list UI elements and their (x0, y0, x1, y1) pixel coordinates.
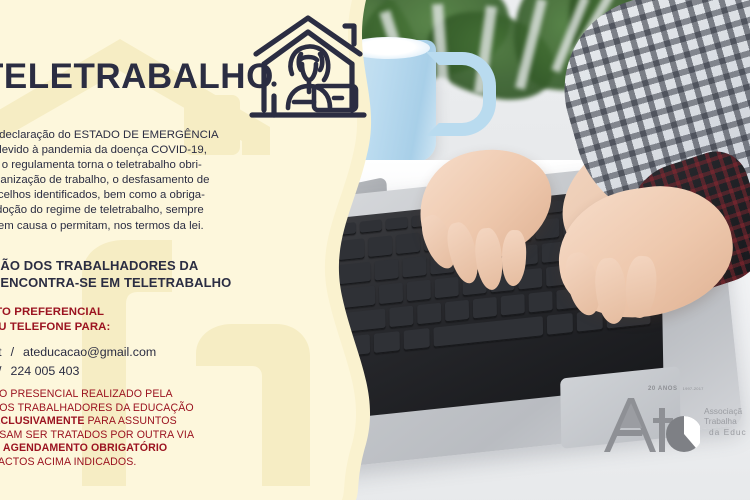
ate-wordmark-icon (600, 394, 700, 456)
intro-line: nos concelhos identificados, bem como a … (0, 188, 288, 203)
note-line-1: DIMENTO PRESENCIAL REALIZADO PELA (0, 388, 194, 402)
intro-line: o país, devido à pandemia da doença COVI… (0, 143, 288, 158)
note-line-3-post: PARA ASSUNTOS (85, 415, 177, 427)
note-line-4: ÃO POSSAM SER TRATADOS POR OUTRA VIA (0, 429, 194, 443)
in-person-service-note: DIMENTO PRESENCIAL REALIZADO PELA AÇÃO D… (0, 388, 194, 470)
intro-line: ção que o regulamenta torna o teletrabal… (0, 158, 288, 173)
logo-tagline: Associaçã Trabalha da Educ (704, 406, 747, 437)
teletrabalho-poster: TELETRABALHO ente da declaração do ESTAD… (0, 0, 750, 500)
note-line-2: AÇÃO DOS TRABALHADORES DA EDUCAÇÃO (0, 402, 194, 416)
logo-tagline-line-2: Trabalha (704, 416, 747, 426)
cream-content-panel: TELETRABALHO ente da declaração do ESTAD… (0, 0, 400, 500)
intro-line: de de adoção do regime de teletrabalho, … (0, 203, 288, 218)
intro-line: para organização de trabalho, o desfasam… (0, 173, 288, 188)
logo-anniversary-text: 20 ANOS (648, 386, 678, 392)
intro-line: unções em causa o permitam, nos termos d… (0, 219, 288, 234)
page-title: TELETRABALHO (0, 57, 274, 97)
note-exclusivamente: EXCLUSIVAMENTE (0, 415, 85, 427)
ate-logo: 20 ANOS1997-2017 Associaçã Trabalha da E… (600, 386, 750, 466)
headline-block: OCIAÇÃO DOS TRABALHADORES DA AÇÃO ENCONT… (0, 258, 231, 291)
phone-secondary[interactable]: 224 005 403 (10, 364, 79, 378)
headline-line-2: AÇÃO ENCONTRA-SE EM TELETRABALHO (0, 275, 231, 292)
phone-row: 7 231/224 005 403 (0, 362, 156, 381)
preferential-line-1: DIMENTO PREFERENCIAL (0, 305, 110, 320)
note-line-3: A-SE EXCLUSIVAMENTE PARA ASSUNTOS (0, 415, 194, 429)
logo-anniversary: 20 ANOS1997-2017 (648, 386, 704, 392)
headline-line-1: OCIAÇÃO DOS TRABALHADORES DA (0, 258, 231, 275)
intro-line: ente da declaração do ESTADO DE EMERGÊNC… (0, 128, 288, 143)
note-line-5: CEM DE AGENDAMENTO OBRIGATÓRIO (0, 442, 194, 456)
contact-separator: / (0, 364, 10, 378)
contact-details: @ate.pt/ateducacao@gmail.com 7 231/224 0… (0, 343, 156, 381)
email-secondary[interactable]: ateducacao@gmail.com (23, 345, 156, 359)
logo-tagline-line-1: Associaçã (704, 406, 747, 416)
logo-tagline-line-3: da Educ (704, 427, 747, 437)
logo-years: 1997-2017 (683, 386, 704, 391)
note-line-6: S CONTACTOS ACIMA INDICADOS. (0, 456, 194, 470)
contact-separator: / (2, 345, 23, 359)
preferential-service-heading: DIMENTO PREFERENCIAL MAIL OU TELEFONE PA… (0, 305, 110, 334)
preferential-line-2: MAIL OU TELEFONE PARA: (0, 320, 110, 335)
intro-paragraph: ente da declaração do ESTADO DE EMERGÊNC… (0, 128, 288, 234)
note-agendamento-obrigatorio: AGENDAMENTO OBRIGATÓRIO (3, 442, 167, 454)
email-row: @ate.pt/ateducacao@gmail.com (0, 343, 156, 362)
